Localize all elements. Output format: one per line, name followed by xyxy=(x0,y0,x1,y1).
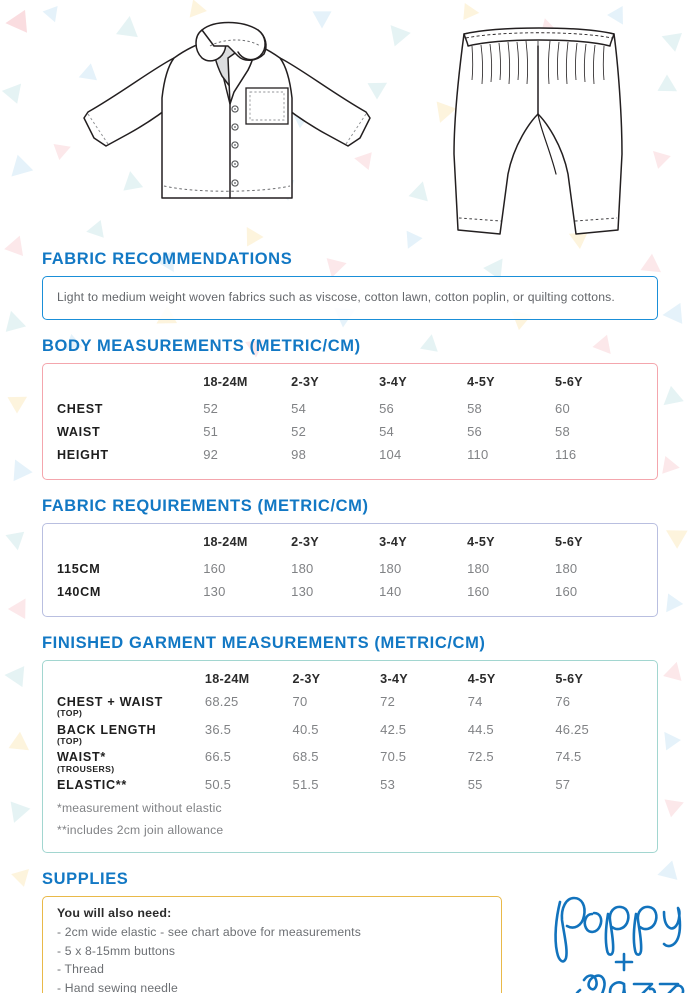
cell-chest-18-24m: 52 xyxy=(203,398,291,421)
cell-backlength-18-24m: 36.5 xyxy=(205,720,293,748)
row-label-main: WAIST* xyxy=(57,751,201,765)
row-label-main: CHEST + WAIST xyxy=(57,696,201,710)
body-measurements-heading: BODY MEASUREMENTS (METRIC/CM) xyxy=(42,337,658,355)
section-supplies: SUPPLIES You will also need: - 2cm wide … xyxy=(42,870,658,993)
cell-waist-2-3y: 52 xyxy=(291,421,379,444)
cell-140cm-4-5y: 160 xyxy=(467,581,555,604)
row-label-waist: WAIST xyxy=(57,421,203,444)
cell-115cm-5-6y: 180 xyxy=(555,558,643,581)
cell-115cm-4-5y: 180 xyxy=(467,558,555,581)
row-label-chest-plus-waist: CHEST + WAIST (TOP) xyxy=(57,692,205,720)
cell-backlength-4-5y: 44.5 xyxy=(468,720,556,748)
cell-elastic-18-24m: 50.5 xyxy=(205,775,293,796)
cell-chest-2-3y: 54 xyxy=(291,398,379,421)
column-header-3-4y: 3-4Y xyxy=(379,375,467,398)
table-row: WAIST 51 52 54 56 58 xyxy=(57,421,643,444)
finished-garment-panel: 18-24M 2-3Y 3-4Y 4-5Y 5-6Y CHEST + WAIST… xyxy=(42,660,658,853)
cell-backlength-2-3y: 40.5 xyxy=(293,720,381,748)
cell-140cm-18-24m: 130 xyxy=(203,581,291,604)
column-header-5-6y: 5-6Y xyxy=(555,672,643,692)
cell-waisttrousers-2-3y: 68.5 xyxy=(293,747,381,775)
cell-waist-4-5y: 56 xyxy=(467,421,555,444)
supplies-item-buttons: - 5 x 8-15mm buttons xyxy=(57,942,487,961)
table-row: 115CM 160 180 180 180 180 xyxy=(57,558,643,581)
content-column: FABRIC RECOMMENDATIONS Light to medium w… xyxy=(42,250,658,993)
cell-140cm-5-6y: 160 xyxy=(555,581,643,604)
row-label-sub: (TOP) xyxy=(57,709,201,718)
cell-elastic-4-5y: 55 xyxy=(468,775,556,796)
supplies-intro: You will also need: xyxy=(57,906,487,920)
row-label-115cm: 115CM xyxy=(57,558,203,581)
footnote-join-allowance: **includes 2cm join allowance xyxy=(57,821,643,840)
cell-elastic-2-3y: 51.5 xyxy=(293,775,381,796)
cell-chest-5-6y: 60 xyxy=(555,398,643,421)
fabric-recommendations-heading: FABRIC RECOMMENDATIONS xyxy=(42,250,658,268)
cell-140cm-3-4y: 140 xyxy=(379,581,467,604)
column-header-3-4y: 3-4Y xyxy=(379,535,467,558)
section-fabric-recommendations: FABRIC RECOMMENDATIONS Light to medium w… xyxy=(42,250,658,320)
column-header-2-3y: 2-3Y xyxy=(291,535,379,558)
cell-waisttrousers-3-4y: 70.5 xyxy=(380,747,468,775)
row-label-elastic: ELASTIC** xyxy=(57,775,205,796)
body-measurements-panel: 18-24M 2-3Y 3-4Y 4-5Y 5-6Y CHEST 52 54 5 xyxy=(42,363,658,480)
brand-logo xyxy=(540,876,700,993)
column-header-18-24m: 18-24M xyxy=(203,375,291,398)
cell-waisttrousers-4-5y: 72.5 xyxy=(468,747,556,775)
garment-illustrations xyxy=(0,0,700,252)
column-header-3-4y: 3-4Y xyxy=(380,672,468,692)
cell-height-4-5y: 110 xyxy=(467,444,555,467)
row-label-main: ELASTIC** xyxy=(57,779,201,793)
column-header-2-3y: 2-3Y xyxy=(291,375,379,398)
pattern-info-sheet: FABRIC RECOMMENDATIONS Light to medium w… xyxy=(0,0,700,993)
cell-chest-4-5y: 58 xyxy=(467,398,555,421)
row-label-main: BACK LENGTH xyxy=(57,724,201,738)
table-header-row: 18-24M 2-3Y 3-4Y 4-5Y 5-6Y xyxy=(57,672,643,692)
cell-height-3-4y: 104 xyxy=(379,444,467,467)
column-header-4-5y: 4-5Y xyxy=(467,535,555,558)
row-label-sub: (TROUSERS) xyxy=(57,765,201,774)
column-header-blank xyxy=(57,535,203,558)
cell-waist-5-6y: 58 xyxy=(555,421,643,444)
column-header-5-6y: 5-6Y xyxy=(555,375,643,398)
column-header-2-3y: 2-3Y xyxy=(293,672,381,692)
cell-backlength-5-6y: 46.25 xyxy=(555,720,643,748)
fabric-requirements-heading: FABRIC REQUIREMENTS (METRIC/CM) xyxy=(42,497,658,515)
table-header-row: 18-24M 2-3Y 3-4Y 4-5Y 5-6Y xyxy=(57,535,643,558)
section-body-measurements: BODY MEASUREMENTS (METRIC/CM) 18-24M 2-3… xyxy=(42,337,658,480)
cell-140cm-2-3y: 130 xyxy=(291,581,379,604)
cell-waist-3-4y: 54 xyxy=(379,421,467,444)
cell-waisttrousers-18-24m: 66.5 xyxy=(205,747,293,775)
cell-chestwaist-4-5y: 74 xyxy=(468,692,556,720)
column-header-18-24m: 18-24M xyxy=(203,535,291,558)
column-header-4-5y: 4-5Y xyxy=(467,375,555,398)
table-row: BACK LENGTH (TOP) 36.5 40.5 42.5 44.5 46… xyxy=(57,720,643,748)
row-label-sub: (TOP) xyxy=(57,737,201,746)
cell-chestwaist-2-3y: 70 xyxy=(293,692,381,720)
table-header-row: 18-24M 2-3Y 3-4Y 4-5Y 5-6Y xyxy=(57,375,643,398)
cell-115cm-2-3y: 180 xyxy=(291,558,379,581)
cell-waisttrousers-5-6y: 74.5 xyxy=(555,747,643,775)
table-row: HEIGHT 92 98 104 110 116 xyxy=(57,444,643,467)
fabric-requirements-table: 18-24M 2-3Y 3-4Y 4-5Y 5-6Y 115CM 160 180 xyxy=(57,535,643,604)
cell-chestwaist-3-4y: 72 xyxy=(380,692,468,720)
row-label-waist-trousers: WAIST* (TROUSERS) xyxy=(57,747,205,775)
fabric-requirements-panel: 18-24M 2-3Y 3-4Y 4-5Y 5-6Y 115CM 160 180 xyxy=(42,523,658,617)
row-label-chest: CHEST xyxy=(57,398,203,421)
column-header-5-6y: 5-6Y xyxy=(555,535,643,558)
cell-waist-18-24m: 51 xyxy=(203,421,291,444)
table-row: 140CM 130 130 140 160 160 xyxy=(57,581,643,604)
column-header-blank xyxy=(57,375,203,398)
supplies-row: You will also need: - 2cm wide elastic -… xyxy=(42,896,658,993)
finished-garment-table: 18-24M 2-3Y 3-4Y 4-5Y 5-6Y CHEST + WAIST… xyxy=(57,672,643,796)
cell-height-2-3y: 98 xyxy=(291,444,379,467)
row-label-back-length: BACK LENGTH (TOP) xyxy=(57,720,205,748)
row-label-height: HEIGHT xyxy=(57,444,203,467)
cell-backlength-3-4y: 42.5 xyxy=(380,720,468,748)
fabric-recommendations-text: Light to medium weight woven fabrics suc… xyxy=(57,288,643,307)
section-fabric-requirements: FABRIC REQUIREMENTS (METRIC/CM) 18-24M 2… xyxy=(42,497,658,617)
pyjama-trousers-flat-sketch xyxy=(428,4,648,254)
table-row: ELASTIC** 50.5 51.5 53 55 57 xyxy=(57,775,643,796)
cell-chestwaist-18-24m: 68.25 xyxy=(205,692,293,720)
cell-115cm-18-24m: 160 xyxy=(203,558,291,581)
column-header-4-5y: 4-5Y xyxy=(468,672,556,692)
cell-height-5-6y: 116 xyxy=(555,444,643,467)
table-row: WAIST* (TROUSERS) 66.5 68.5 70.5 72.5 74… xyxy=(57,747,643,775)
cell-chestwaist-5-6y: 76 xyxy=(555,692,643,720)
cell-115cm-3-4y: 180 xyxy=(379,558,467,581)
column-header-18-24m: 18-24M xyxy=(205,672,293,692)
column-header-blank xyxy=(57,672,205,692)
cell-elastic-3-4y: 53 xyxy=(380,775,468,796)
fabric-recommendations-panel: Light to medium weight woven fabrics suc… xyxy=(42,276,658,320)
table-row: CHEST + WAIST (TOP) 68.25 70 72 74 76 xyxy=(57,692,643,720)
finished-garment-heading: FINISHED GARMENT MEASUREMENTS (METRIC/CM… xyxy=(42,634,658,652)
cell-chest-3-4y: 56 xyxy=(379,398,467,421)
section-finished-garment-measurements: FINISHED GARMENT MEASUREMENTS (METRIC/CM… xyxy=(42,634,658,853)
footnote-without-elastic: *measurement without elastic xyxy=(57,799,643,818)
pyjama-top-flat-sketch xyxy=(62,6,392,246)
row-label-140cm: 140CM xyxy=(57,581,203,604)
supplies-item-elastic: - 2cm wide elastic - see chart above for… xyxy=(57,923,487,942)
body-measurements-table: 18-24M 2-3Y 3-4Y 4-5Y 5-6Y CHEST 52 54 5 xyxy=(57,375,643,467)
table-row: CHEST 52 54 56 58 60 xyxy=(57,398,643,421)
poppy-jazz-script-logo xyxy=(540,876,700,993)
supplies-panel: You will also need: - 2cm wide elastic -… xyxy=(42,896,502,993)
supplies-item-needle: - Hand sewing needle xyxy=(57,979,487,993)
cell-elastic-5-6y: 57 xyxy=(555,775,643,796)
cell-height-18-24m: 92 xyxy=(203,444,291,467)
supplies-item-thread: - Thread xyxy=(57,960,487,979)
